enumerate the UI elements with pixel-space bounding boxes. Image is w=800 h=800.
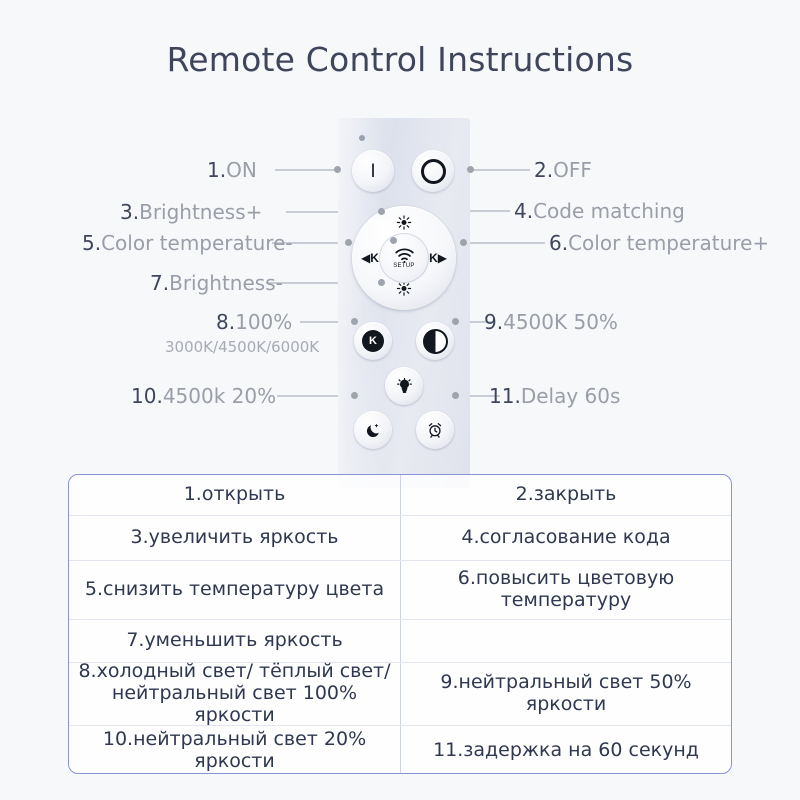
table-cell-left: 5.снизить температуру цвета — [69, 561, 400, 619]
callout-dot-4 — [390, 237, 397, 244]
callout-dot-8 — [351, 318, 358, 325]
callout-label-11: 11.Delay 60s — [489, 384, 620, 408]
table-cell-right: 6.повысить цветовую температуру — [400, 561, 731, 619]
callout-label-7: 7.Brightness- — [150, 271, 283, 295]
power-off-button[interactable] — [412, 150, 454, 192]
color-temp-up-icon[interactable]: K▶ — [429, 251, 447, 265]
table-row: 10.нейтральный свет 20% яркости 11.задер… — [69, 725, 731, 774]
callout-dot-10 — [351, 392, 358, 399]
power-on-button[interactable]: I — [352, 150, 394, 192]
ir-led-indicator — [359, 135, 365, 141]
moon-star-icon — [365, 422, 382, 439]
callout-label-9: 9.4500K 50% — [484, 310, 618, 334]
callout-label-5: 5.Color temperature- — [82, 231, 293, 255]
wifi-setup-icon — [394, 248, 415, 263]
translation-table: 1.открыть 2.закрыть 3.увеличить яркость … — [68, 474, 732, 774]
power-off-icon — [421, 159, 446, 184]
callout-label-10: 10.4500k 20% — [131, 384, 276, 408]
callout-dot-3 — [378, 208, 385, 215]
delay-timer-button[interactable] — [416, 411, 454, 449]
table-row: 7.уменьшить яркость — [69, 619, 731, 662]
led-remote-control: I — [338, 118, 470, 488]
page-title: Remote Control Instructions — [0, 40, 800, 79]
table-row: 1.открыть 2.закрыть — [69, 475, 731, 515]
brightness-up-icon[interactable] — [397, 215, 412, 235]
table-cell-left: 7.уменьшить яркость — [69, 620, 400, 662]
table-cell-left: 10.нейтральный свет 20% яркости — [69, 726, 400, 774]
brightness-down-icon[interactable] — [397, 281, 412, 301]
callout-label-3: 3.Brightness+ — [120, 200, 262, 224]
table-row: 3.увеличить яркость 4.согласование кода — [69, 515, 731, 560]
callout-dot-9 — [452, 318, 459, 325]
instruction-sheet: Remote Control Instructions I — [0, 0, 800, 800]
kelvin-circle-icon: K — [362, 330, 384, 352]
table-cell-right: 2.закрыть — [400, 475, 731, 515]
table-cell-left: 1.открыть — [69, 475, 400, 515]
color-temp-down-icon[interactable]: ◀K — [361, 251, 379, 265]
callout-dot-5 — [345, 239, 352, 246]
callout-label-6: 6.Color temperature+ — [549, 231, 769, 255]
navigation-disc[interactable]: ◀K K▶ SETUP — [352, 206, 456, 310]
callout-dot-6 — [460, 239, 467, 246]
night-mode-button[interactable] — [354, 411, 392, 449]
setup-button[interactable]: SETUP — [379, 233, 429, 283]
alarm-clock-icon — [426, 421, 444, 439]
callout-dot-7 — [378, 279, 385, 286]
kelvin-mode-button[interactable]: K — [354, 322, 392, 360]
light-bulb-icon — [396, 378, 413, 395]
table-cell-right — [400, 620, 731, 662]
neutral-mode-button[interactable] — [416, 322, 454, 360]
table-row: 8.холодный свет/ тёплый свет/ нейтральны… — [69, 662, 731, 725]
table-cell-right: 9.нейтральный свет 50% яркости — [400, 663, 731, 725]
table-row: 5.снизить температуру цвета 6.повысить ц… — [69, 560, 731, 619]
callout-dot-11 — [452, 392, 459, 399]
callout-label-1: 1.ON — [207, 158, 257, 182]
table-cell-left: 8.холодный свет/ тёплый свет/ нейтральны… — [69, 663, 400, 725]
contrast-half-icon — [423, 329, 448, 354]
callout-label-2: 2.OFF — [534, 158, 592, 182]
setup-label: SETUP — [393, 263, 415, 269]
table-cell-left: 3.увеличить яркость — [69, 516, 400, 560]
power-on-icon: I — [370, 162, 375, 181]
kelvin-options-note: 3000K/4500K/6000K — [165, 338, 319, 356]
table-cell-right: 4.согласование кода — [400, 516, 731, 560]
callout-label-4: 4.Code matching — [514, 199, 685, 223]
light-mode-button[interactable] — [385, 367, 423, 405]
callout-dot-2 — [467, 166, 474, 173]
callout-label-8: 8.100% — [216, 310, 292, 334]
table-cell-right: 11.задержка на 60 секунд — [400, 726, 731, 774]
callout-dot-1 — [334, 166, 341, 173]
